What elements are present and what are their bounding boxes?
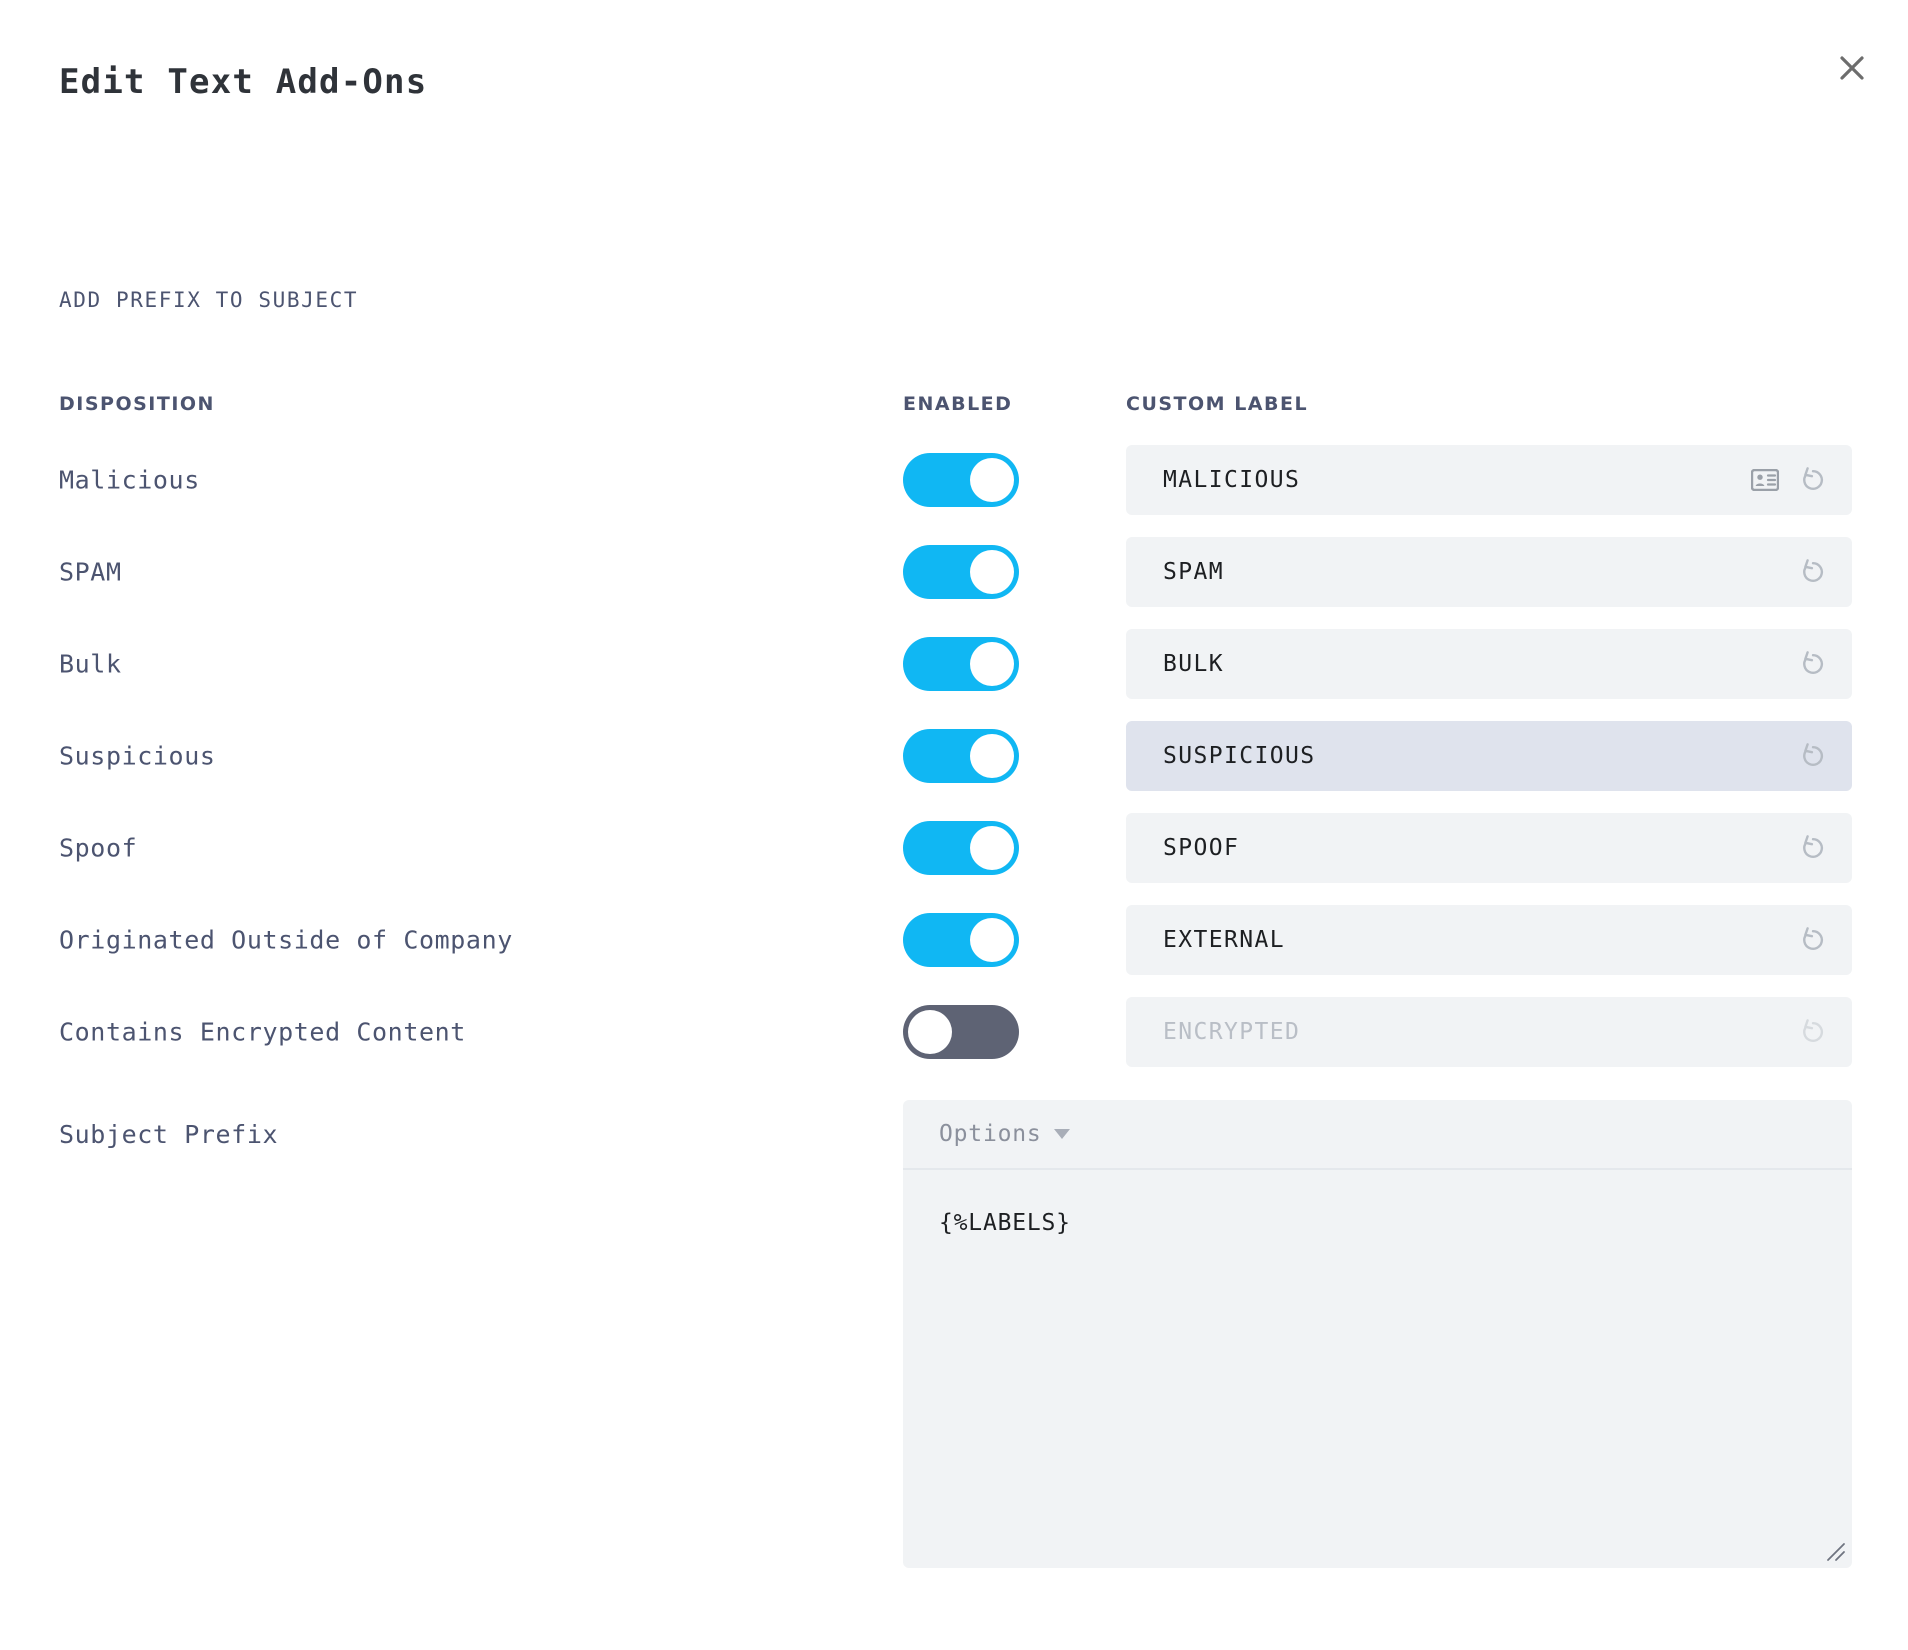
row-custom-label-input[interactable]: BULK bbox=[1126, 629, 1852, 699]
row-disposition-label: Malicious bbox=[59, 466, 200, 495]
row-enabled-toggle[interactable] bbox=[903, 913, 1019, 967]
subject-prefix-label: Subject Prefix bbox=[59, 1120, 278, 1149]
reset-icon-glyph bbox=[1798, 833, 1828, 863]
close-icon-glyph bbox=[1837, 53, 1867, 83]
toggle-knob bbox=[970, 826, 1014, 870]
row-custom-label-value: SPOOF bbox=[1163, 835, 1796, 861]
row-input-icons bbox=[1796, 923, 1830, 957]
reset-icon[interactable] bbox=[1796, 647, 1830, 681]
toggle-knob bbox=[970, 642, 1014, 686]
contact-card-icon[interactable] bbox=[1748, 463, 1782, 497]
reset-icon[interactable] bbox=[1796, 739, 1830, 773]
row-enabled-toggle[interactable] bbox=[903, 821, 1019, 875]
row-input-icons bbox=[1796, 555, 1830, 589]
row-input-icons bbox=[1796, 1015, 1830, 1049]
row-custom-label-input[interactable]: SPAM bbox=[1126, 537, 1852, 607]
reset-icon[interactable] bbox=[1796, 463, 1830, 497]
row-disposition-label: Spoof bbox=[59, 834, 137, 863]
row-enabled-toggle[interactable] bbox=[903, 637, 1019, 691]
row-custom-label-input[interactable]: EXTERNAL bbox=[1126, 905, 1852, 975]
reset-icon-glyph bbox=[1798, 465, 1828, 495]
toggle-knob bbox=[970, 734, 1014, 778]
row-enabled-toggle[interactable] bbox=[903, 1005, 1019, 1059]
column-header-custom-label: CUSTOM LABEL bbox=[1126, 393, 1308, 415]
subject-prefix-editor: Options {%LABELS} bbox=[903, 1100, 1852, 1568]
row-input-icons bbox=[1796, 739, 1830, 773]
reset-icon-glyph bbox=[1798, 557, 1828, 587]
reset-icon bbox=[1796, 1015, 1830, 1049]
reset-icon[interactable] bbox=[1796, 923, 1830, 957]
reset-icon[interactable] bbox=[1796, 831, 1830, 865]
row-custom-label-value: SPAM bbox=[1163, 559, 1796, 585]
subject-prefix-textarea[interactable]: {%LABELS} bbox=[903, 1168, 1852, 1568]
table-row: SPAMSPAM bbox=[0, 526, 1908, 618]
row-enabled-toggle[interactable] bbox=[903, 729, 1019, 783]
options-dropdown-button[interactable]: Options bbox=[939, 1121, 1070, 1147]
row-input-icons bbox=[1796, 647, 1830, 681]
row-custom-label-value: BULK bbox=[1163, 651, 1796, 677]
section-label-add-prefix: ADD PREFIX TO SUBJECT bbox=[59, 288, 358, 312]
reset-icon-glyph bbox=[1798, 1017, 1828, 1047]
edit-text-addons-dialog: Edit Text Add-Ons ADD PREFIX TO SUBJECT … bbox=[0, 0, 1908, 1650]
options-dropdown-label: Options bbox=[939, 1121, 1042, 1147]
row-custom-label-input: ENCRYPTED bbox=[1126, 997, 1852, 1067]
dialog-title: Edit Text Add-Ons bbox=[59, 62, 427, 102]
row-custom-label-value: MALICIOUS bbox=[1163, 467, 1748, 493]
table-row: SpoofSPOOF bbox=[0, 802, 1908, 894]
row-disposition-label: SPAM bbox=[59, 558, 122, 587]
row-input-icons bbox=[1796, 831, 1830, 865]
toggle-knob bbox=[908, 1010, 952, 1054]
table-row: BulkBULK bbox=[0, 618, 1908, 710]
row-enabled-toggle[interactable] bbox=[903, 545, 1019, 599]
table-row: Contains Encrypted ContentENCRYPTED bbox=[0, 986, 1908, 1078]
toggle-knob bbox=[970, 918, 1014, 962]
row-enabled-toggle[interactable] bbox=[903, 453, 1019, 507]
table-row: MaliciousMALICIOUS bbox=[0, 434, 1908, 526]
row-custom-label-input[interactable]: SPOOF bbox=[1126, 813, 1852, 883]
reset-icon-glyph bbox=[1798, 649, 1828, 679]
toggle-knob bbox=[970, 550, 1014, 594]
editor-toolbar: Options bbox=[903, 1100, 1852, 1168]
table-row: Originated Outside of CompanyEXTERNAL bbox=[0, 894, 1908, 986]
toggle-knob bbox=[970, 458, 1014, 502]
resize-handle-icon[interactable] bbox=[1824, 1540, 1846, 1562]
reset-icon-glyph bbox=[1798, 925, 1828, 955]
chevron-down-icon bbox=[1054, 1129, 1070, 1139]
table-row: SuspiciousSUSPICIOUS bbox=[0, 710, 1908, 802]
subject-prefix-textarea-value: {%LABELS} bbox=[939, 1210, 1852, 1236]
row-custom-label-input[interactable]: MALICIOUS bbox=[1126, 445, 1852, 515]
row-disposition-label: Originated Outside of Company bbox=[59, 926, 513, 955]
row-custom-label-value: EXTERNAL bbox=[1163, 927, 1796, 953]
row-custom-label-value: ENCRYPTED bbox=[1163, 1019, 1796, 1045]
reset-icon-glyph bbox=[1798, 741, 1828, 771]
row-disposition-label: Bulk bbox=[59, 650, 122, 679]
close-icon[interactable] bbox=[1824, 40, 1880, 96]
reset-icon[interactable] bbox=[1796, 555, 1830, 589]
row-disposition-label: Suspicious bbox=[59, 742, 216, 771]
row-custom-label-value: SUSPICIOUS bbox=[1163, 743, 1796, 769]
row-custom-label-input[interactable]: SUSPICIOUS bbox=[1126, 721, 1852, 791]
contact-card-icon-glyph bbox=[1751, 469, 1779, 491]
column-header-enabled: ENABLED bbox=[903, 393, 1012, 415]
row-input-icons bbox=[1748, 463, 1830, 497]
row-disposition-label: Contains Encrypted Content bbox=[59, 1018, 466, 1047]
column-header-disposition: DISPOSITION bbox=[59, 393, 215, 415]
